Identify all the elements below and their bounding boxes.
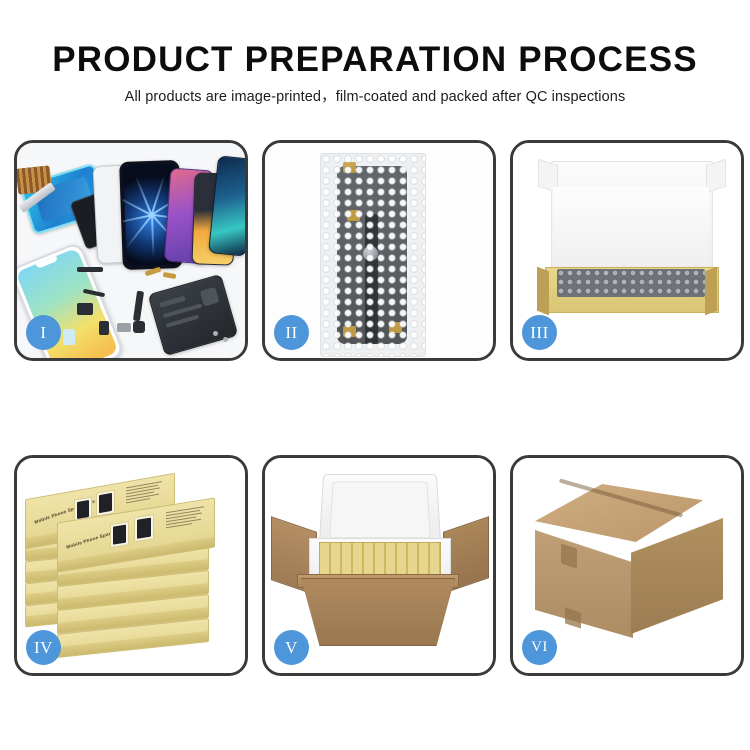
process-step-4: Mobile Phone Spare Parts Mobile Pho <box>14 455 248 676</box>
stacked-retail-boxes-illustration: Mobile Phone Spare Parts Mobile Pho <box>17 458 245 673</box>
carton-body <box>301 578 455 646</box>
carton-with-foam-insert-illustration: V <box>265 458 493 673</box>
step-badge-4: IV <box>26 630 61 665</box>
sealed-shipping-carton-illustration: VI <box>513 458 741 673</box>
bubble-texture-overlay <box>321 154 425 356</box>
label-spec-lines-front <box>166 506 206 530</box>
step-badge-3: III <box>522 315 557 350</box>
step-badge-1: I <box>26 315 61 350</box>
bubble-wrap-pouch <box>320 153 426 357</box>
part-sim-tray <box>63 329 75 345</box>
part-screw-a <box>213 331 218 336</box>
label-window-front-1 <box>110 521 129 548</box>
part-speaker-mesh <box>117 323 131 332</box>
step-badge-5: V <box>274 630 309 665</box>
product-preparation-infographic: PRODUCT PREPARATION PROCESS All products… <box>0 0 750 750</box>
part-camera-module <box>133 321 145 333</box>
step-badge-6: VI <box>522 630 557 665</box>
process-step-grid: I II <box>14 140 736 680</box>
process-step-3: III <box>510 140 744 361</box>
header: PRODUCT PREPARATION PROCESS All products… <box>0 0 750 105</box>
box-right-flap <box>705 267 717 316</box>
part-bracket-b <box>99 321 109 335</box>
white-foam-sheet <box>553 187 709 265</box>
step-badge-2: II <box>274 315 309 350</box>
label-window-front-2 <box>134 514 154 542</box>
page-title: PRODUCT PREPARATION PROCESS <box>0 42 750 77</box>
process-step-5: V <box>262 455 496 676</box>
box-left-flap <box>537 267 549 316</box>
part-cable-a <box>77 267 103 272</box>
phone-parts-spread-illustration: I <box>17 143 245 358</box>
open-foam-lined-box-illustration: III <box>513 143 741 358</box>
label-spec-lines-back <box>126 481 164 506</box>
process-step-6: VI <box>510 455 744 676</box>
bubble-wrapped-contents <box>557 269 705 297</box>
part-bracket-a <box>77 303 93 315</box>
page-subtitle: All products are image-printed，film-coat… <box>0 90 750 105</box>
process-step-2: II <box>262 140 496 361</box>
bubble-wrapped-screen-illustration: II <box>265 143 493 358</box>
part-screw-b <box>223 337 228 342</box>
process-step-1: I <box>14 140 248 361</box>
foam-box-lid <box>319 474 442 546</box>
label-window-back-2 <box>96 489 115 516</box>
